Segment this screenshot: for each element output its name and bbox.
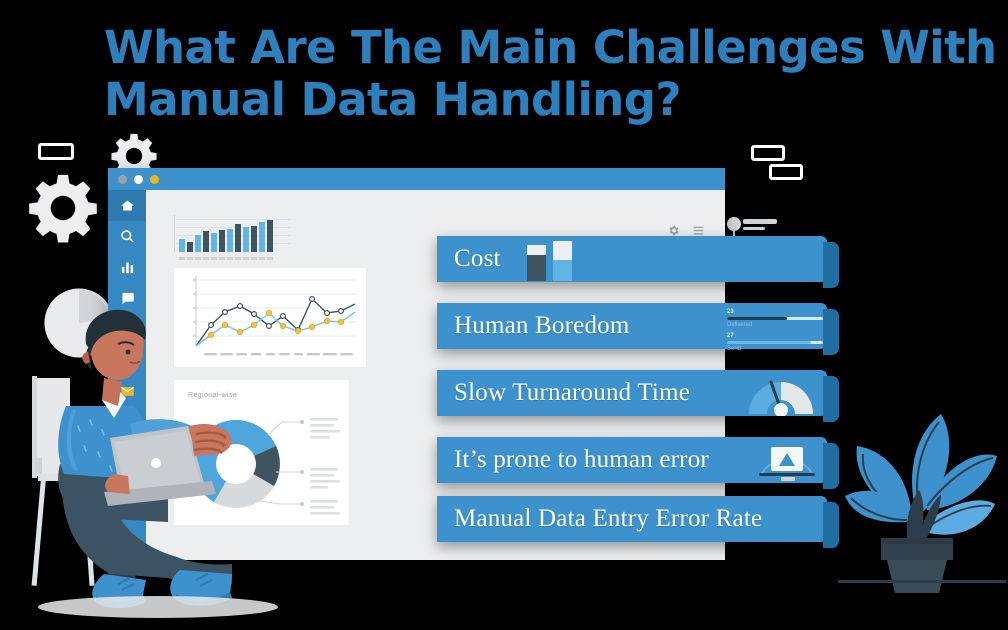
window-titlebar [108, 168, 725, 190]
decor-rect-left [38, 143, 74, 160]
banner-fold [823, 376, 839, 422]
laptop-warning-icon [755, 441, 819, 485]
banner-human-boredom[interactable]: Human Boredom 23 Delivered 27 Send [437, 303, 827, 349]
stats-bars-icon: 23 Delivered 27 Send [727, 309, 823, 352]
stat-caption-delivered: Delivered [727, 322, 823, 328]
home-icon [120, 198, 135, 213]
sidebar-item-home[interactable] [108, 190, 146, 221]
floor-line [838, 580, 1006, 583]
hand-right [190, 424, 231, 456]
plant-leaves [845, 414, 997, 540]
window-dot-grey[interactable] [118, 175, 127, 184]
banner-fold [823, 502, 839, 548]
page-title: What Are The Main Challenges With Manual… [104, 22, 944, 126]
search-icon [120, 229, 135, 244]
banner-label-cost: Cost [437, 245, 501, 273]
window-dot-amber[interactable] [150, 175, 159, 184]
gear-icon-large [27, 172, 99, 244]
decor-rect-top-right-1 [751, 145, 785, 161]
stat-row-send: 27 Send [727, 333, 823, 352]
stat-value-send: 27 [727, 333, 823, 339]
bar-chart-bars [179, 220, 273, 252]
bar-pair-icon [527, 241, 572, 281]
banner-label-human-error: It’s prone to human error [437, 446, 709, 474]
stat-caption-send: Send [727, 346, 823, 352]
chart-icon [120, 260, 135, 275]
person-floor-shadow [38, 596, 278, 618]
banner-fold [823, 443, 839, 489]
stat-row-delivered: 23 Delivered [727, 309, 823, 328]
banner-cost[interactable]: Cost [437, 236, 827, 282]
banner-label-human-boredom: Human Boredom [437, 312, 630, 340]
banner-label-slow-turnaround-time: Slow Turnaround Time [437, 379, 690, 407]
banner-fold [823, 309, 839, 355]
decor-rect-top-right-2 [769, 164, 803, 180]
potted-plant-illustration [845, 398, 1008, 593]
title-line-1: What Are The Main Challenges With [104, 22, 944, 74]
sidebar-item-search[interactable] [108, 221, 146, 252]
gauge-icon [745, 374, 817, 416]
banner-fold [823, 242, 839, 288]
banner-human-error[interactable]: It’s prone to human error [437, 437, 827, 483]
banner-label-manual-data-entry-error-rate: Manual Data Entry Error Rate [437, 505, 762, 533]
stat-value-delivered: 23 [727, 309, 823, 315]
bar-chart [174, 215, 291, 260]
banner-slow-turnaround-time[interactable]: Slow Turnaround Time [437, 370, 827, 416]
banner-manual-data-entry-error-rate[interactable]: Manual Data Entry Error Rate [437, 496, 827, 542]
window-dot-white[interactable] [134, 175, 143, 184]
plant-pot [881, 538, 953, 593]
title-line-2: Manual Data Handling? [104, 74, 944, 126]
person-with-laptop-illustration [18, 278, 258, 623]
infographic-canvas: What Are The Main Challenges With Manual… [0, 0, 1008, 630]
